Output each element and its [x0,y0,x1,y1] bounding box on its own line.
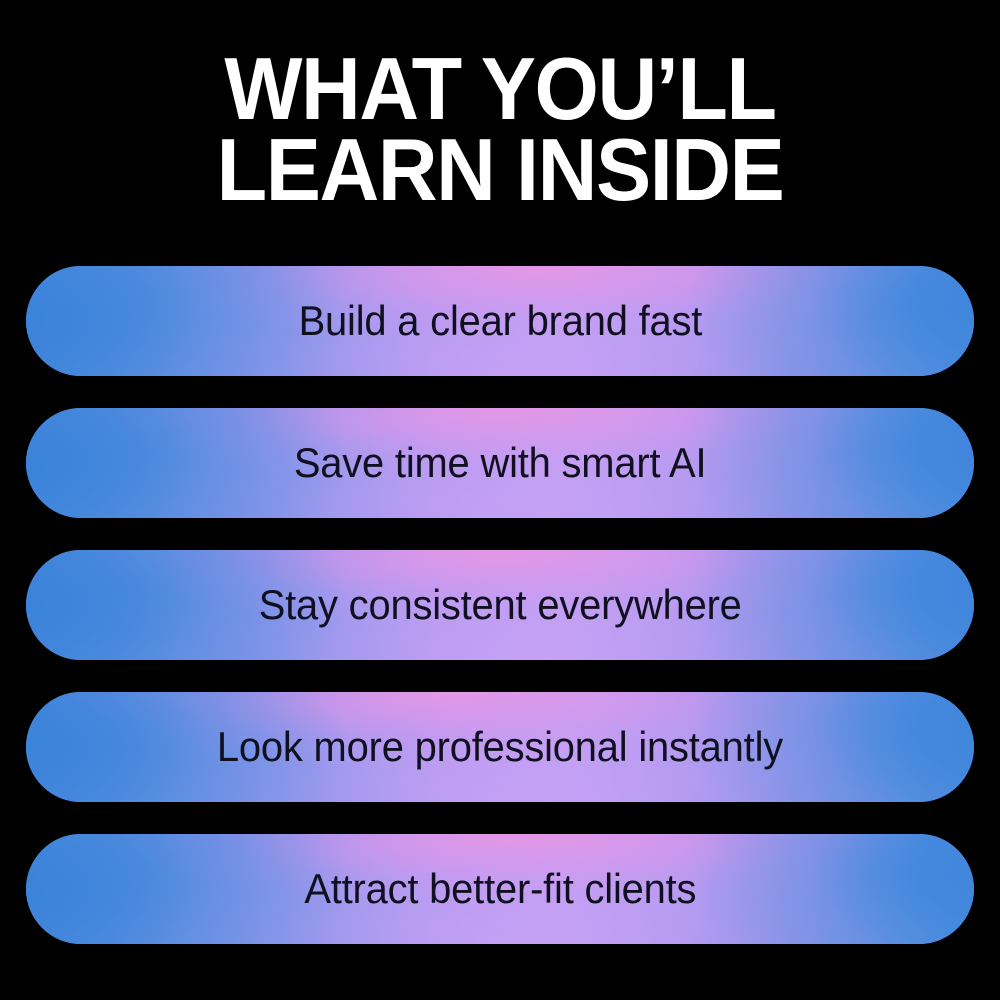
benefit-pill-label: Look more professional instantly [217,692,783,802]
benefit-pill-list: Build a clear brand fast Save time with … [26,266,974,944]
benefit-pill-1[interactable]: Build a clear brand fast [26,266,974,376]
slide-canvas: WHAT YOU’LL LEARN INSIDE Build a clear b… [0,0,1000,1000]
benefit-pill-label: Build a clear brand fast [298,266,702,376]
page-title-line-1: WHAT YOU’LL [30,48,970,129]
benefit-pill-label: Attract better-fit clients [304,834,696,944]
benefit-pill-label: Stay consistent everywhere [259,550,742,660]
benefit-pill-3[interactable]: Stay consistent everywhere [26,550,974,660]
benefit-pill-label: Save time with smart AI [294,408,707,518]
benefit-pill-5[interactable]: Attract better-fit clients [26,834,974,944]
page-title-line-2: LEARN INSIDE [30,129,970,210]
page-title: WHAT YOU’LL LEARN INSIDE [0,48,1000,210]
benefit-pill-4[interactable]: Look more professional instantly [26,692,974,802]
benefit-pill-2[interactable]: Save time with smart AI [26,408,974,518]
